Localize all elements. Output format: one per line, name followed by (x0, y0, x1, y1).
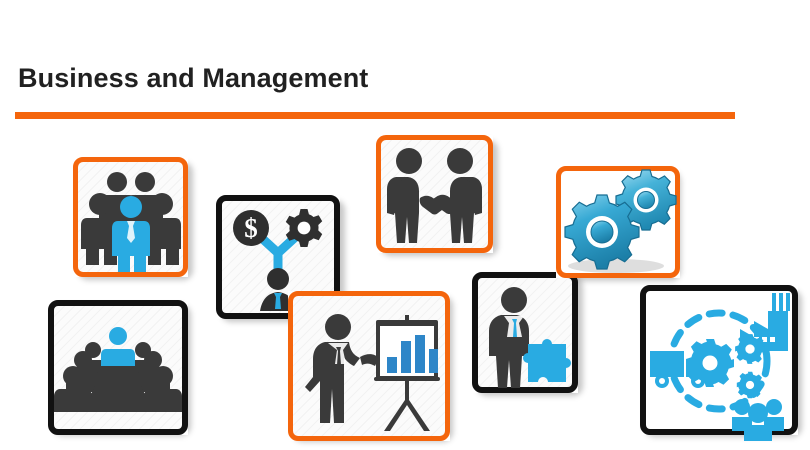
businessman-figure (489, 287, 529, 388)
presenter-figure (305, 314, 360, 423)
gear-large (565, 195, 639, 269)
blue-gears-icon (556, 166, 680, 278)
supply-chain-icon (640, 285, 798, 435)
slide-canvas: Business and Management (0, 0, 810, 450)
gears-icon-tile[interactable] (556, 166, 680, 278)
flip-chart (374, 315, 440, 431)
puzzle-piece (523, 339, 571, 382)
dollar-coin-icon: $ (233, 210, 269, 246)
handshake-icon (376, 135, 493, 253)
page-title: Business and Management (18, 63, 368, 94)
svg-text:$: $ (244, 213, 258, 243)
puzzle-solution-icon (472, 272, 578, 393)
meeting-leader (101, 327, 135, 366)
supply-chain-icon-tile[interactable] (640, 285, 798, 435)
presentation-icon (288, 291, 450, 441)
puzzle-solution-icon-tile[interactable] (472, 272, 578, 393)
team-group-icon-tile[interactable] (73, 157, 188, 277)
meeting-table-icon (48, 300, 188, 435)
people-group-icon (732, 399, 784, 441)
team-group-icon (73, 157, 188, 277)
meeting-table-icon-tile[interactable] (48, 300, 188, 435)
handshake-icon-tile[interactable] (376, 135, 493, 253)
gear-cluster-icon (686, 334, 765, 398)
presentation-icon-tile[interactable] (288, 291, 450, 441)
title-divider-rule (15, 112, 735, 119)
